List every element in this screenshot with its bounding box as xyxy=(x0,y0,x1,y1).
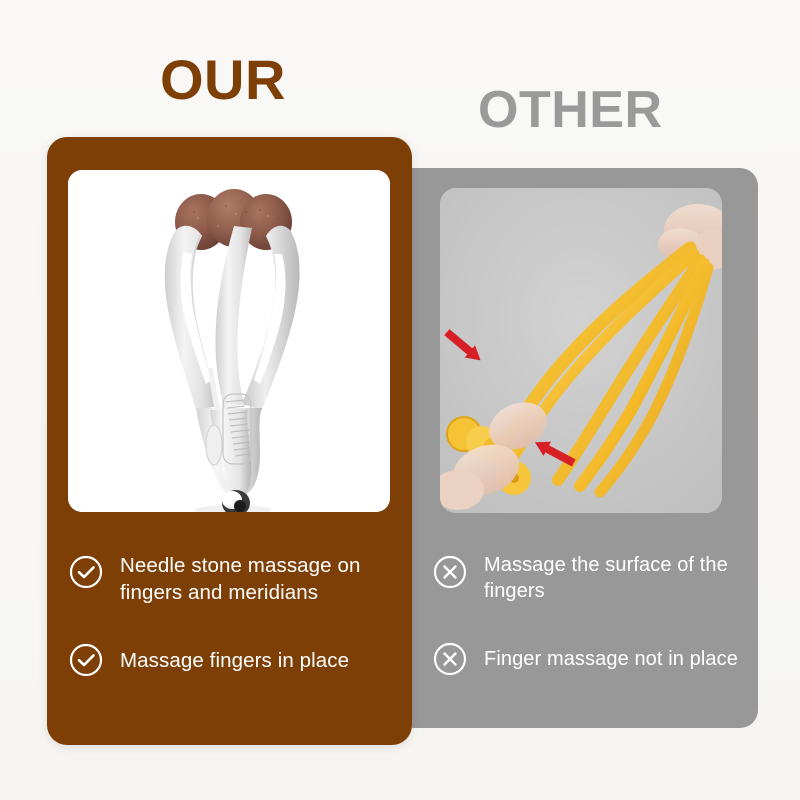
other-feature-list: Massage the surface of the fingers Finge… xyxy=(432,552,742,677)
other-product-illustration xyxy=(440,188,722,513)
list-item: Needle stone massage on fingers and meri… xyxy=(68,552,398,606)
list-item-label: Needle stone massage on fingers and meri… xyxy=(120,552,398,606)
list-item-label: Massage fingers in place xyxy=(120,647,349,674)
list-item-label: Finger massage not in place xyxy=(484,646,738,672)
our-product-image xyxy=(68,170,390,512)
check-circle-icon xyxy=(68,554,104,590)
x-circle-icon xyxy=(432,641,468,677)
x-circle-icon xyxy=(432,554,468,590)
comparison-infographic: OUR OTHER xyxy=(0,0,800,800)
other-heading: OTHER xyxy=(478,84,663,136)
check-circle-icon xyxy=(68,642,104,678)
list-item: Finger massage not in place xyxy=(432,641,742,677)
other-product-image xyxy=(440,188,722,513)
our-heading: OUR xyxy=(160,52,286,108)
list-item-label: Massage the surface of the fingers xyxy=(484,552,742,605)
list-item: Massage the surface of the fingers xyxy=(432,552,742,605)
our-feature-list: Needle stone massage on fingers and meri… xyxy=(68,552,398,678)
our-product-illustration xyxy=(68,170,390,512)
list-item: Massage fingers in place xyxy=(68,642,398,678)
